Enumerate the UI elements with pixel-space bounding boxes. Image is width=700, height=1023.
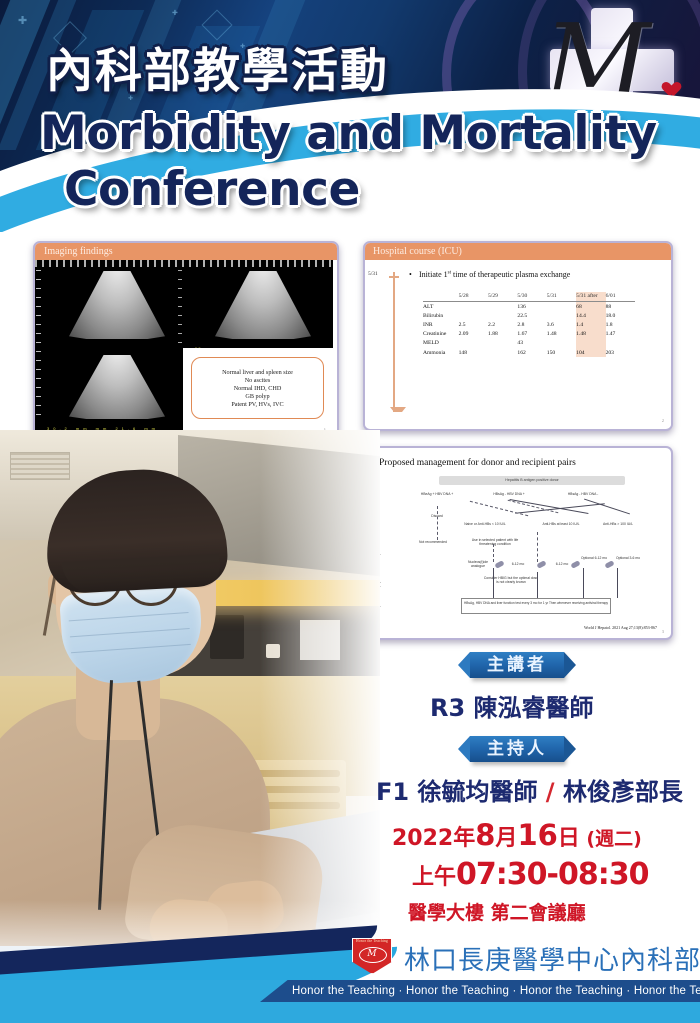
course-body: 5/31 •Initiate 1st time of therapeutic p… [365, 260, 671, 427]
date-weekday: (週二) [580, 828, 642, 850]
flow-node-label: 6-12 mo [556, 562, 568, 566]
table-cell [576, 339, 605, 348]
slide-imaging-header: Imaging findings [35, 243, 337, 260]
col-head: 5/30 [517, 292, 546, 302]
row-label: MELD [423, 339, 459, 348]
flow-node: Optional 6-12 mo [581, 556, 607, 560]
flow-node: Optional 3-6 mo [615, 556, 641, 560]
ultrasound-image-3 [57, 352, 177, 430]
course-bullet-text: •Initiate 1st time of therapeutic plasma… [409, 270, 570, 279]
speaker-name: R3 陳泓睿醫師 [430, 688, 594, 723]
photo-fade-right [260, 430, 380, 970]
flow-node: Naive or Anti-HBs < 10 IU/L [451, 522, 519, 526]
flow-node-label: 6-12 mo [512, 562, 524, 566]
flow-node-label: Not recommended [419, 540, 447, 544]
slide-hospital-course: Hospital course (ICU) 5/31 •Initiate 1st… [363, 241, 673, 431]
table-cell: 22.5 [517, 311, 546, 320]
ultrasound-ruler [35, 260, 333, 267]
table-cell: 1.8 [606, 320, 635, 329]
table-header-row: 5/28 5/29 5/30 5/31 5/31 after 6/01 [423, 292, 635, 302]
event-time: 上午07:30-08:30 [412, 857, 648, 892]
event-venue: 醫學大樓 第二會議廳 [408, 898, 586, 925]
hospital-emblem: Honor the Teaching M [352, 936, 392, 976]
table-row: Bilirubin22.514.418.0 [423, 311, 635, 320]
table-cell: 1.47 [606, 330, 635, 339]
table-row: Creatinine2.091.881.671.481.481.47 [423, 330, 635, 339]
flow-node-label: Nucleos(t)ide analogue [468, 560, 488, 568]
row-label: Creatinine [423, 330, 459, 339]
table-cell: 14.4 [576, 311, 605, 320]
table-cell: 2.8 [517, 320, 546, 329]
table-cell [547, 311, 576, 320]
col-head: 5/28 [459, 292, 488, 302]
flow-node-label: HBsAg - HBV DNA - [568, 492, 599, 496]
imaging-note: GB polyp [245, 393, 269, 400]
slide-flowchart: Proposed management for donor and recipi… [363, 446, 673, 640]
table-cell: 68 [576, 302, 605, 312]
table-cell: 1.88 [488, 330, 517, 339]
timeline-line [393, 272, 395, 412]
flow-node: HBsAg - HBV DNA + [487, 492, 531, 496]
footer-band: Honor the Teaching · Honor the Teaching … [0, 980, 700, 1023]
flowchart-footer-note: HBsAg, HBV DNA and liver function test e… [461, 598, 611, 614]
photo-machine [210, 615, 244, 659]
time-prefix: 上午 [412, 865, 456, 890]
table-row: ALT1366888 [423, 302, 635, 312]
flowchart-title: Proposed management for donor and recipi… [379, 458, 576, 468]
imaging-note: No ascites [245, 377, 271, 384]
flow-node-label: Optional 6-12 mo [581, 556, 607, 560]
title-english-line2: Conference [64, 162, 360, 217]
ultrasound-depth-scale-mid [178, 270, 182, 348]
flow-node: Anti-HBs at least 10 IU/L [531, 522, 591, 526]
speaker-ribbon: 主講者 [470, 652, 564, 678]
flow-node-label: HBeAg + HBV DNA + [421, 492, 453, 496]
table-row: MELD43 [423, 339, 635, 348]
lab-results-table: 5/28 5/29 5/30 5/31 5/31 after 6/01 ALT1… [423, 292, 635, 357]
table-cell: 2.2 [488, 320, 517, 329]
col-head: 5/29 [488, 292, 517, 302]
table-cell [488, 302, 517, 312]
table-cell: 203 [606, 348, 635, 357]
event-date: 2022年8月16日 (週二) [392, 818, 642, 852]
imaging-note: Normal liver and spleen size [222, 369, 293, 376]
flow-node: Anti-HBs > 100 IU/L [593, 522, 643, 526]
course-page-number: 2 [662, 418, 664, 423]
table-cell [488, 348, 517, 357]
flow-node: 6-12 mo [507, 562, 529, 566]
pill-icon [604, 560, 614, 569]
flow-node: Nucleos(t)ide analogue [461, 560, 495, 569]
flow-connector-vertical [617, 568, 618, 598]
cross-motif-icon: ✚ [18, 16, 27, 27]
flow-node: 6-12 mo [551, 562, 573, 566]
flow-node-label: HBsAg - HBV DNA + [493, 492, 524, 496]
row-label: Bilirubin [423, 311, 459, 320]
ultrasound-image-1 [57, 268, 177, 350]
host-name-separator: / [537, 778, 562, 806]
flow-node: Consider HBIG but the optimal dose is no… [483, 576, 539, 585]
imaging-notes-list: Normal liver and spleen size No ascites … [191, 357, 324, 419]
title-english-line1: Morbidity and Mortality [40, 106, 657, 161]
col-head: 5/31 [547, 292, 576, 302]
host-name-suffix: 林俊彥部長 [563, 778, 683, 806]
table-cell: 88 [606, 302, 635, 312]
flow-node: Not recommended [409, 540, 457, 544]
table-cell: 1.48 [547, 330, 576, 339]
poster-header: ✚ ✚ ✚ ✚ ✚ M 內科部教學活動 Morbidity and Mortal… [0, 0, 700, 232]
table-cell: 1.48 [576, 330, 605, 339]
table-cell [606, 339, 635, 348]
flowchart-top-bar: Hepatitis B antigen positive donor [439, 476, 625, 485]
table-cell [459, 339, 488, 348]
flow-page-number: 3 [662, 629, 664, 634]
flow-node-label: Anti-HBs at least 10 IU/L [542, 522, 579, 526]
ultrasound-depth-scale [36, 270, 41, 420]
flow-connector-vertical [493, 544, 494, 562]
timeline-arrow [390, 407, 406, 417]
table-cell [547, 339, 576, 348]
table-cell [459, 302, 488, 312]
table-cell: 150 [547, 348, 576, 357]
table-cell [459, 311, 488, 320]
slide-imaging-findings: Imaging findings 30.2 mm mm 21.6 mm 5.2 … [33, 241, 339, 439]
heart-icon [659, 76, 676, 92]
flow-node-label: Anti-HBs > 100 IU/L [603, 522, 633, 526]
flow-node: HBsAg - HBV DNA - [561, 492, 605, 496]
flow-connector-vertical [537, 532, 538, 562]
col-head: 6/01 [606, 292, 635, 302]
table-cell: 3.6 [547, 320, 576, 329]
cross-motif-icon: ✚ [172, 10, 178, 17]
emblem-letter: M [365, 949, 379, 959]
bullet-text-a: Initiate 1 [419, 270, 448, 279]
table-cell: 104 [576, 348, 605, 357]
table-cell: 148 [459, 348, 488, 357]
ultrasound-image-2 [203, 268, 323, 350]
date-year: 2022年 [392, 826, 475, 851]
table-cell: 18.0 [606, 311, 635, 320]
organization-name: 林口長庚醫學中心內科部 [404, 940, 700, 977]
flow-node-label: Use in selected patient with life threat… [472, 538, 519, 546]
photo-vent [10, 452, 70, 480]
table-cell: 136 [517, 302, 546, 312]
poster-root: ✚ ✚ ✚ ✚ ✚ M 內科部教學活動 Morbidity and Mortal… [0, 0, 700, 1023]
pill-icon [494, 560, 504, 569]
flow-connector [584, 499, 630, 515]
flow-connector-vertical [583, 568, 584, 598]
row-label: ALT [423, 302, 459, 312]
timeline-date: 5/31 [368, 271, 378, 277]
table-row: INR2.52.22.83.61.41.8 [423, 320, 635, 329]
emblem-top-text: Honor the Teaching [355, 939, 389, 943]
host-name: F1 徐毓均醫師 / 林俊彥部長 [376, 772, 683, 807]
speaker-photo [0, 430, 380, 970]
date-month-number: 8 [475, 818, 495, 852]
flow-node-label: Optional 3-6 mo [616, 556, 640, 560]
flow-connector-vertical [493, 568, 494, 598]
date-month-unit: 月 [495, 826, 517, 851]
table-cell: 162 [517, 348, 546, 357]
slide-course-header: Hospital course (ICU) [365, 243, 671, 260]
flow-node: Use in selected patient with life threat… [467, 538, 523, 547]
row-label: Ammonia [423, 348, 459, 357]
table-cell: 2.5 [459, 320, 488, 329]
table-cell [488, 311, 517, 320]
col-head: 5/31 after [576, 292, 605, 302]
table-cell: 2.09 [459, 330, 488, 339]
imaging-note: Patent PV, HVs, IVC [231, 401, 283, 408]
date-day-unit: 日 [558, 826, 580, 851]
flow-node: HBeAg + HBV DNA + [415, 492, 459, 496]
title-chinese: 內科部教學活動 [46, 32, 389, 101]
table-row: Ammonia148162150104203 [423, 348, 635, 357]
imaging-note: Normal IHD, CHD [234, 385, 282, 392]
table-cell: 1.4 [576, 320, 605, 329]
table-cell [547, 302, 576, 312]
flow-connector-vertical [437, 506, 438, 540]
flow-connector-vertical [537, 572, 538, 598]
flow-node-label: Naive or Anti-HBs < 10 IU/L [464, 522, 506, 526]
time-range: 07:30-08:30 [456, 857, 648, 892]
table-cell [488, 339, 517, 348]
footer-band-text: Honor the Teaching · Honor the Teaching … [292, 981, 700, 1001]
host-ribbon: 主持人 [470, 736, 564, 762]
row-label: INR [423, 320, 459, 329]
flow-node-label: Consider HBIG but the optimal dose is no… [484, 576, 538, 584]
table-cell: 43 [517, 339, 546, 348]
date-day-number: 16 [517, 818, 557, 852]
host-name-prefix: F1 徐毓均醫師 [376, 778, 537, 806]
imaging-notes-box: Normal liver and spleen size No ascites … [183, 348, 333, 435]
col-head [423, 292, 459, 302]
ultrasound-images: 30.2 mm mm 21.6 mm 5.2 mm Normal liver a… [35, 260, 333, 435]
table-cell: 1.67 [517, 330, 546, 339]
bullet-text-b: time of therapeutic plasma exchange [451, 270, 570, 279]
flowchart-citation: World J Hepatol. 2021 Aug 27;13(8):853-8… [584, 625, 657, 630]
